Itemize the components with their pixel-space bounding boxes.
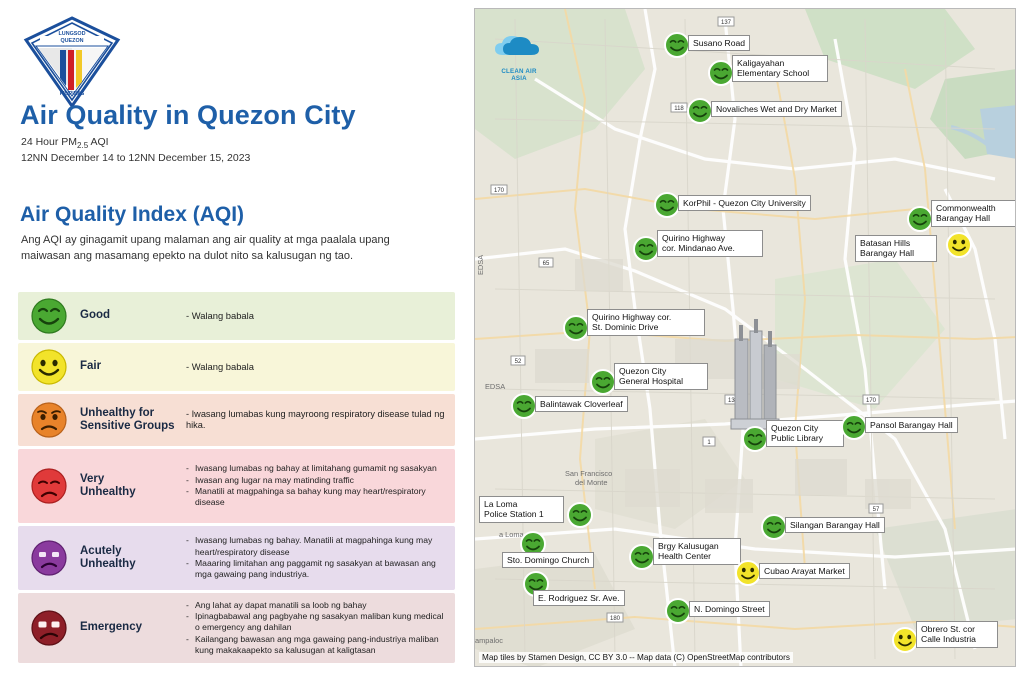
station-marker-quirino-highway-cor-st-dominic-drive[interactable]: Quirino Highway cor. St. Dominic Drive xyxy=(562,314,590,347)
aqi-advice-line: Walang babala xyxy=(192,310,254,321)
station-label-line: Elementary School xyxy=(737,68,809,78)
station-label-line: Pansol Barangay Hall xyxy=(870,420,953,430)
svg-text:EDSA: EDSA xyxy=(476,255,485,275)
station-marker-obrero-st-cor-calle-industria[interactable]: Obrero St. cor Calle Industria xyxy=(891,626,919,659)
svg-text:LUNGSOD: LUNGSOD xyxy=(59,31,86,37)
station-marker-quirino-highway-cor-mindanao-ave[interactable]: Quirino Highway cor. Mindanao Ave. xyxy=(632,235,660,268)
station-label: Obrero St. cor Calle Industria xyxy=(916,621,998,648)
aqi-level-name: Fair xyxy=(80,360,186,374)
station-label: Cubao Arayat Market xyxy=(759,563,850,579)
smile-green-icon xyxy=(707,59,735,87)
station-marker-kaligayahan-elementary-school[interactable]: Kaligayahan Elementary School xyxy=(707,59,735,92)
aqi-face-cell xyxy=(18,466,80,506)
station-label-line: La Loma xyxy=(484,499,517,509)
station-label: Novaliches Wet and Dry Market xyxy=(711,101,842,117)
svg-text:180: 180 xyxy=(610,616,621,622)
smile-green-icon xyxy=(906,205,934,233)
station-marker-sto-domingo-church[interactable]: Sto. Domingo Church xyxy=(519,530,547,563)
station-label-line: E. Rodriguez Sr. Ave. xyxy=(538,593,620,603)
station-label-line: General Hospital xyxy=(619,376,683,386)
aqi-level-name: Good xyxy=(80,309,186,323)
infographic-page: LUNGSOD QUEZON PILIPINAS Air Quality in … xyxy=(0,0,1024,675)
station-label-line: Sto. Domingo Church xyxy=(507,555,589,565)
station-marker-batasan-hills-barangay-hall[interactable]: Batasan Hills Barangay Hall xyxy=(945,231,973,264)
station-label-line: KorPhil - Quezon City University xyxy=(683,198,806,208)
station-marker-pansol-barangay-hall[interactable]: Pansol Barangay Hall xyxy=(840,413,868,446)
station-label: Pansol Barangay Hall xyxy=(865,417,958,433)
clean-air-asia-logo: CLEAN AIR ASIA xyxy=(487,31,551,83)
station-label-line: Public Library xyxy=(771,433,823,443)
station-label-line: Quezon City xyxy=(619,366,666,376)
station-label-line: Brgy Kalusugan xyxy=(658,541,719,551)
smile-yellow-icon xyxy=(734,559,762,587)
svg-text:San Francisco: San Francisco xyxy=(565,469,612,478)
station-label-line: Police Station 1 xyxy=(484,509,544,519)
svg-text:57: 57 xyxy=(873,507,880,513)
aqi-level-name: Very Unhealthy xyxy=(80,473,186,500)
station-marker-novaliches-wet-and-dry-market[interactable]: Novaliches Wet and Dry Market xyxy=(686,97,714,130)
station-label: Quezon City General Hospital xyxy=(614,363,708,390)
svg-text:PILIPINAS: PILIPINAS xyxy=(60,91,85,97)
station-marker-n-domingo-street[interactable]: N. Domingo Street xyxy=(664,597,692,630)
aqi-level-name-line1: Very xyxy=(80,473,104,485)
svg-text:ampaloc: ampaloc xyxy=(475,636,503,645)
quezon-city-map[interactable]: 137 118 170 133 65 52 170 1 57 180 EDSA … xyxy=(474,8,1016,667)
map-attribution: Map tiles by Stamen Design, CC BY 3.0 --… xyxy=(479,652,793,663)
smile-green-icon xyxy=(840,413,868,441)
station-label: N. Domingo Street xyxy=(689,601,770,617)
svg-text:EDSA: EDSA xyxy=(485,382,505,391)
table-row: Fair - Walang babala xyxy=(18,343,455,391)
smile-green-icon xyxy=(510,392,538,420)
aqi-face-cell xyxy=(18,296,80,336)
station-marker-commonwealth-barangay-hall[interactable]: Commonwealth Barangay Hall xyxy=(906,205,934,238)
station-label: Quirino Highway cor. St. Dominic Drive xyxy=(587,309,705,336)
station-label: Batasan Hills Barangay Hall xyxy=(855,235,937,262)
aqi-advice-line: Iwasang lumabas ng bahay at limitahang g… xyxy=(195,463,447,474)
smile-green-icon xyxy=(664,597,692,625)
smile-green-icon xyxy=(741,425,769,453)
table-row: Acutely Unhealthy Iwasang lumabas ng bah… xyxy=(18,526,455,590)
station-label-line: N. Domingo Street xyxy=(694,604,765,614)
station-label-line: Quezon City xyxy=(771,423,818,433)
aqi-advice-line: Kailangang bawasan ang mga gawaing pang-… xyxy=(195,634,447,657)
station-marker-korphil-quezon-city-university[interactable]: KorPhil - Quezon City University xyxy=(653,191,681,224)
aqi-advice-line: Maaaring limitahan ang paggamit ng sasak… xyxy=(195,558,447,581)
station-label: Silangan Barangay Hall xyxy=(785,517,885,533)
aqi-level-name: Unhealthy for Sensitive Groups xyxy=(80,407,186,434)
svg-text:118: 118 xyxy=(674,106,684,112)
aqi-advice: - Iwasang lumabas kung mayroong respirat… xyxy=(186,409,455,432)
smile-green-icon xyxy=(562,314,590,342)
aqi-face-cell xyxy=(18,538,80,578)
station-marker-susano-road[interactable]: Susano Road xyxy=(663,31,691,64)
cloud-icon xyxy=(489,31,549,63)
aqi-face-cell xyxy=(18,400,80,440)
aqi-level-name-line1: Acutely xyxy=(80,545,122,557)
svg-text:137: 137 xyxy=(721,20,732,26)
smile-yellow-icon xyxy=(891,626,919,654)
station-label-line: Novaliches Wet and Dry Market xyxy=(716,104,837,114)
station-label-line: Barangay Hall xyxy=(936,213,990,223)
aqi-advice-line: Ang lahat ay dapat manatili sa loob ng b… xyxy=(195,600,447,611)
metric-label-post: AQI xyxy=(88,136,108,148)
table-row: Very Unhealthy Iwasang lumabas ng bahay … xyxy=(18,449,455,523)
aqi-advice: Ang lahat ay dapat manatili sa loob ng b… xyxy=(186,600,455,656)
sad-purple-icon xyxy=(29,538,69,578)
station-label: KorPhil - Quezon City University xyxy=(678,195,811,211)
station-label-line: Obrero St. cor xyxy=(921,624,975,634)
station-label-line: Susano Road xyxy=(693,38,745,48)
smile-green-icon xyxy=(632,235,660,263)
smile-green-icon xyxy=(589,368,617,396)
aqi-advice: Iwasang lumabas ng bahay at limitahang g… xyxy=(186,463,455,508)
station-label: Sto. Domingo Church xyxy=(502,552,594,568)
station-label-line: Calle Industria xyxy=(921,634,976,644)
aqi-advice-line: Ipinagbabawal ang pagbyahe ng sasakyan m… xyxy=(195,611,447,634)
aqi-legend-table: Good - Walang babala Fair - Wal xyxy=(18,292,455,666)
station-label-line: cor. Mindanao Ave. xyxy=(662,243,735,253)
station-marker-la-loma-police-station-1[interactable]: La Loma Police Station 1 xyxy=(566,501,594,534)
svg-text:170: 170 xyxy=(866,398,877,404)
smile-green-icon xyxy=(29,296,69,336)
aqi-advice: Iwasang lumabas ng bahay. Manatili at ma… xyxy=(186,535,455,580)
station-label: Susano Road xyxy=(688,35,750,51)
aqi-face-cell xyxy=(18,347,80,387)
sad-maroon-icon xyxy=(29,608,69,648)
station-label: Kaligayahan Elementary School xyxy=(732,55,828,82)
station-marker-balintawak-cloverleaf[interactable]: Balintawak Cloverleaf xyxy=(510,392,538,425)
logo-line2: ASIA xyxy=(487,75,551,82)
page-title: Air Quality in Quezon City xyxy=(20,100,440,131)
svg-text:del Monte: del Monte xyxy=(575,478,607,487)
aqi-section-heading: Air Quality Index (AQI) xyxy=(20,203,440,227)
smile-green-icon xyxy=(566,501,594,529)
aqi-level-name: Acutely Unhealthy xyxy=(80,545,186,572)
aqi-advice: - Walang babala xyxy=(186,361,455,373)
aqi-advice-line: Iwasang lumabas ng bahay. Manatili at ma… xyxy=(195,535,447,558)
aqi-advice-line: Iwasan ang lugar na may matinding traffi… xyxy=(195,475,447,486)
station-label-line: Barangay Hall xyxy=(860,248,914,258)
aqi-advice: - Walang babala xyxy=(186,310,455,322)
aqi-advice-line: Iwasang lumabas kung mayroong respirator… xyxy=(186,409,444,430)
smile-yellow-icon xyxy=(29,347,69,387)
station-label: Quirino Highway cor. Mindanao Ave. xyxy=(657,230,763,257)
station-label-line: St. Dominic Drive xyxy=(592,322,658,332)
aqi-section-description: Ang AQI ay ginagamit upang malaman ang a… xyxy=(21,233,421,264)
svg-text:52: 52 xyxy=(515,359,522,365)
smile-green-icon xyxy=(686,97,714,125)
station-label-line: Quirino Highway xyxy=(662,233,725,243)
table-row: Good - Walang babala xyxy=(18,292,455,340)
aqi-advice-line: Walang babala xyxy=(192,361,254,372)
station-label-line: Silangan Barangay Hall xyxy=(790,520,880,530)
aqi-level-name-line2: Sensitive Groups xyxy=(80,420,175,432)
aqi-level-name-line2: Unhealthy xyxy=(80,558,136,570)
station-label: La Loma Police Station 1 xyxy=(479,496,564,523)
aqi-level-name: Emergency xyxy=(80,621,186,635)
station-label-line: Balintawak Cloverleaf xyxy=(540,399,623,409)
station-label-line: Kaligayahan xyxy=(737,58,784,68)
station-label: Quezon City Public Library xyxy=(766,420,844,447)
period-subtitle: 12NN December 14 to 12NN December 15, 20… xyxy=(21,152,441,164)
station-marker-e-rodriguez-sr-ave[interactable]: E. Rodriguez Sr. Ave. xyxy=(522,570,550,603)
station-label-line: Cubao Arayat Market xyxy=(764,566,845,576)
station-label-line: Commonwealth xyxy=(936,203,996,213)
smile-green-icon xyxy=(628,543,656,571)
metric-label-sub: 2.5 xyxy=(77,141,88,150)
left-panel: LUNGSOD QUEZON PILIPINAS Air Quality in … xyxy=(0,0,470,675)
smile-green-icon xyxy=(663,31,691,59)
smile-green-icon xyxy=(760,513,788,541)
logo-line1: CLEAN AIR xyxy=(487,68,551,75)
station-label-line: Quirino Highway cor. xyxy=(592,312,671,322)
aqi-level-name-line1: Unhealthy for xyxy=(80,407,154,419)
smile-green-icon xyxy=(653,191,681,219)
station-marker-quezon-city-public-library[interactable]: Quezon City Public Library xyxy=(741,425,769,458)
frown-orange-icon xyxy=(29,400,69,440)
svg-text:QUEZON: QUEZON xyxy=(60,38,83,44)
metric-label-pre: 24 Hour PM xyxy=(21,136,77,148)
table-row: Unhealthy for Sensitive Groups - Iwasang… xyxy=(18,394,455,446)
station-label-line: Health Center xyxy=(658,551,711,561)
sad-red-icon xyxy=(29,466,69,506)
station-marker-brgy-kalusugan-health-center[interactable]: Brgy Kalusugan Health Center xyxy=(628,543,656,576)
metric-subtitle: 24 Hour PM2.5 AQI xyxy=(21,136,441,150)
aqi-face-cell xyxy=(18,608,80,648)
aqi-level-name-line2: Unhealthy xyxy=(80,486,136,498)
station-label: Brgy Kalusugan Health Center xyxy=(653,538,741,565)
table-row: Emergency Ang lahat ay dapat manatili sa… xyxy=(18,593,455,663)
station-label: E. Rodriguez Sr. Ave. xyxy=(533,590,625,606)
quezon-city-seal-icon: LUNGSOD QUEZON PILIPINAS xyxy=(22,16,122,108)
station-label: Balintawak Cloverleaf xyxy=(535,396,628,412)
building-cluster-icon xyxy=(723,319,783,434)
smile-yellow-icon xyxy=(945,231,973,259)
station-marker-cubao-arayat-market[interactable]: Cubao Arayat Market xyxy=(734,559,762,592)
station-label-line: Batasan Hills xyxy=(860,238,910,248)
station-label: Commonwealth Barangay Hall xyxy=(931,200,1016,227)
svg-text:170: 170 xyxy=(494,188,505,194)
aqi-advice-line: Manatili at magpahinga sa bahay kung may… xyxy=(195,486,447,509)
station-marker-silangan-barangay-hall[interactable]: Silangan Barangay Hall xyxy=(760,513,788,546)
svg-text:65: 65 xyxy=(543,261,550,267)
